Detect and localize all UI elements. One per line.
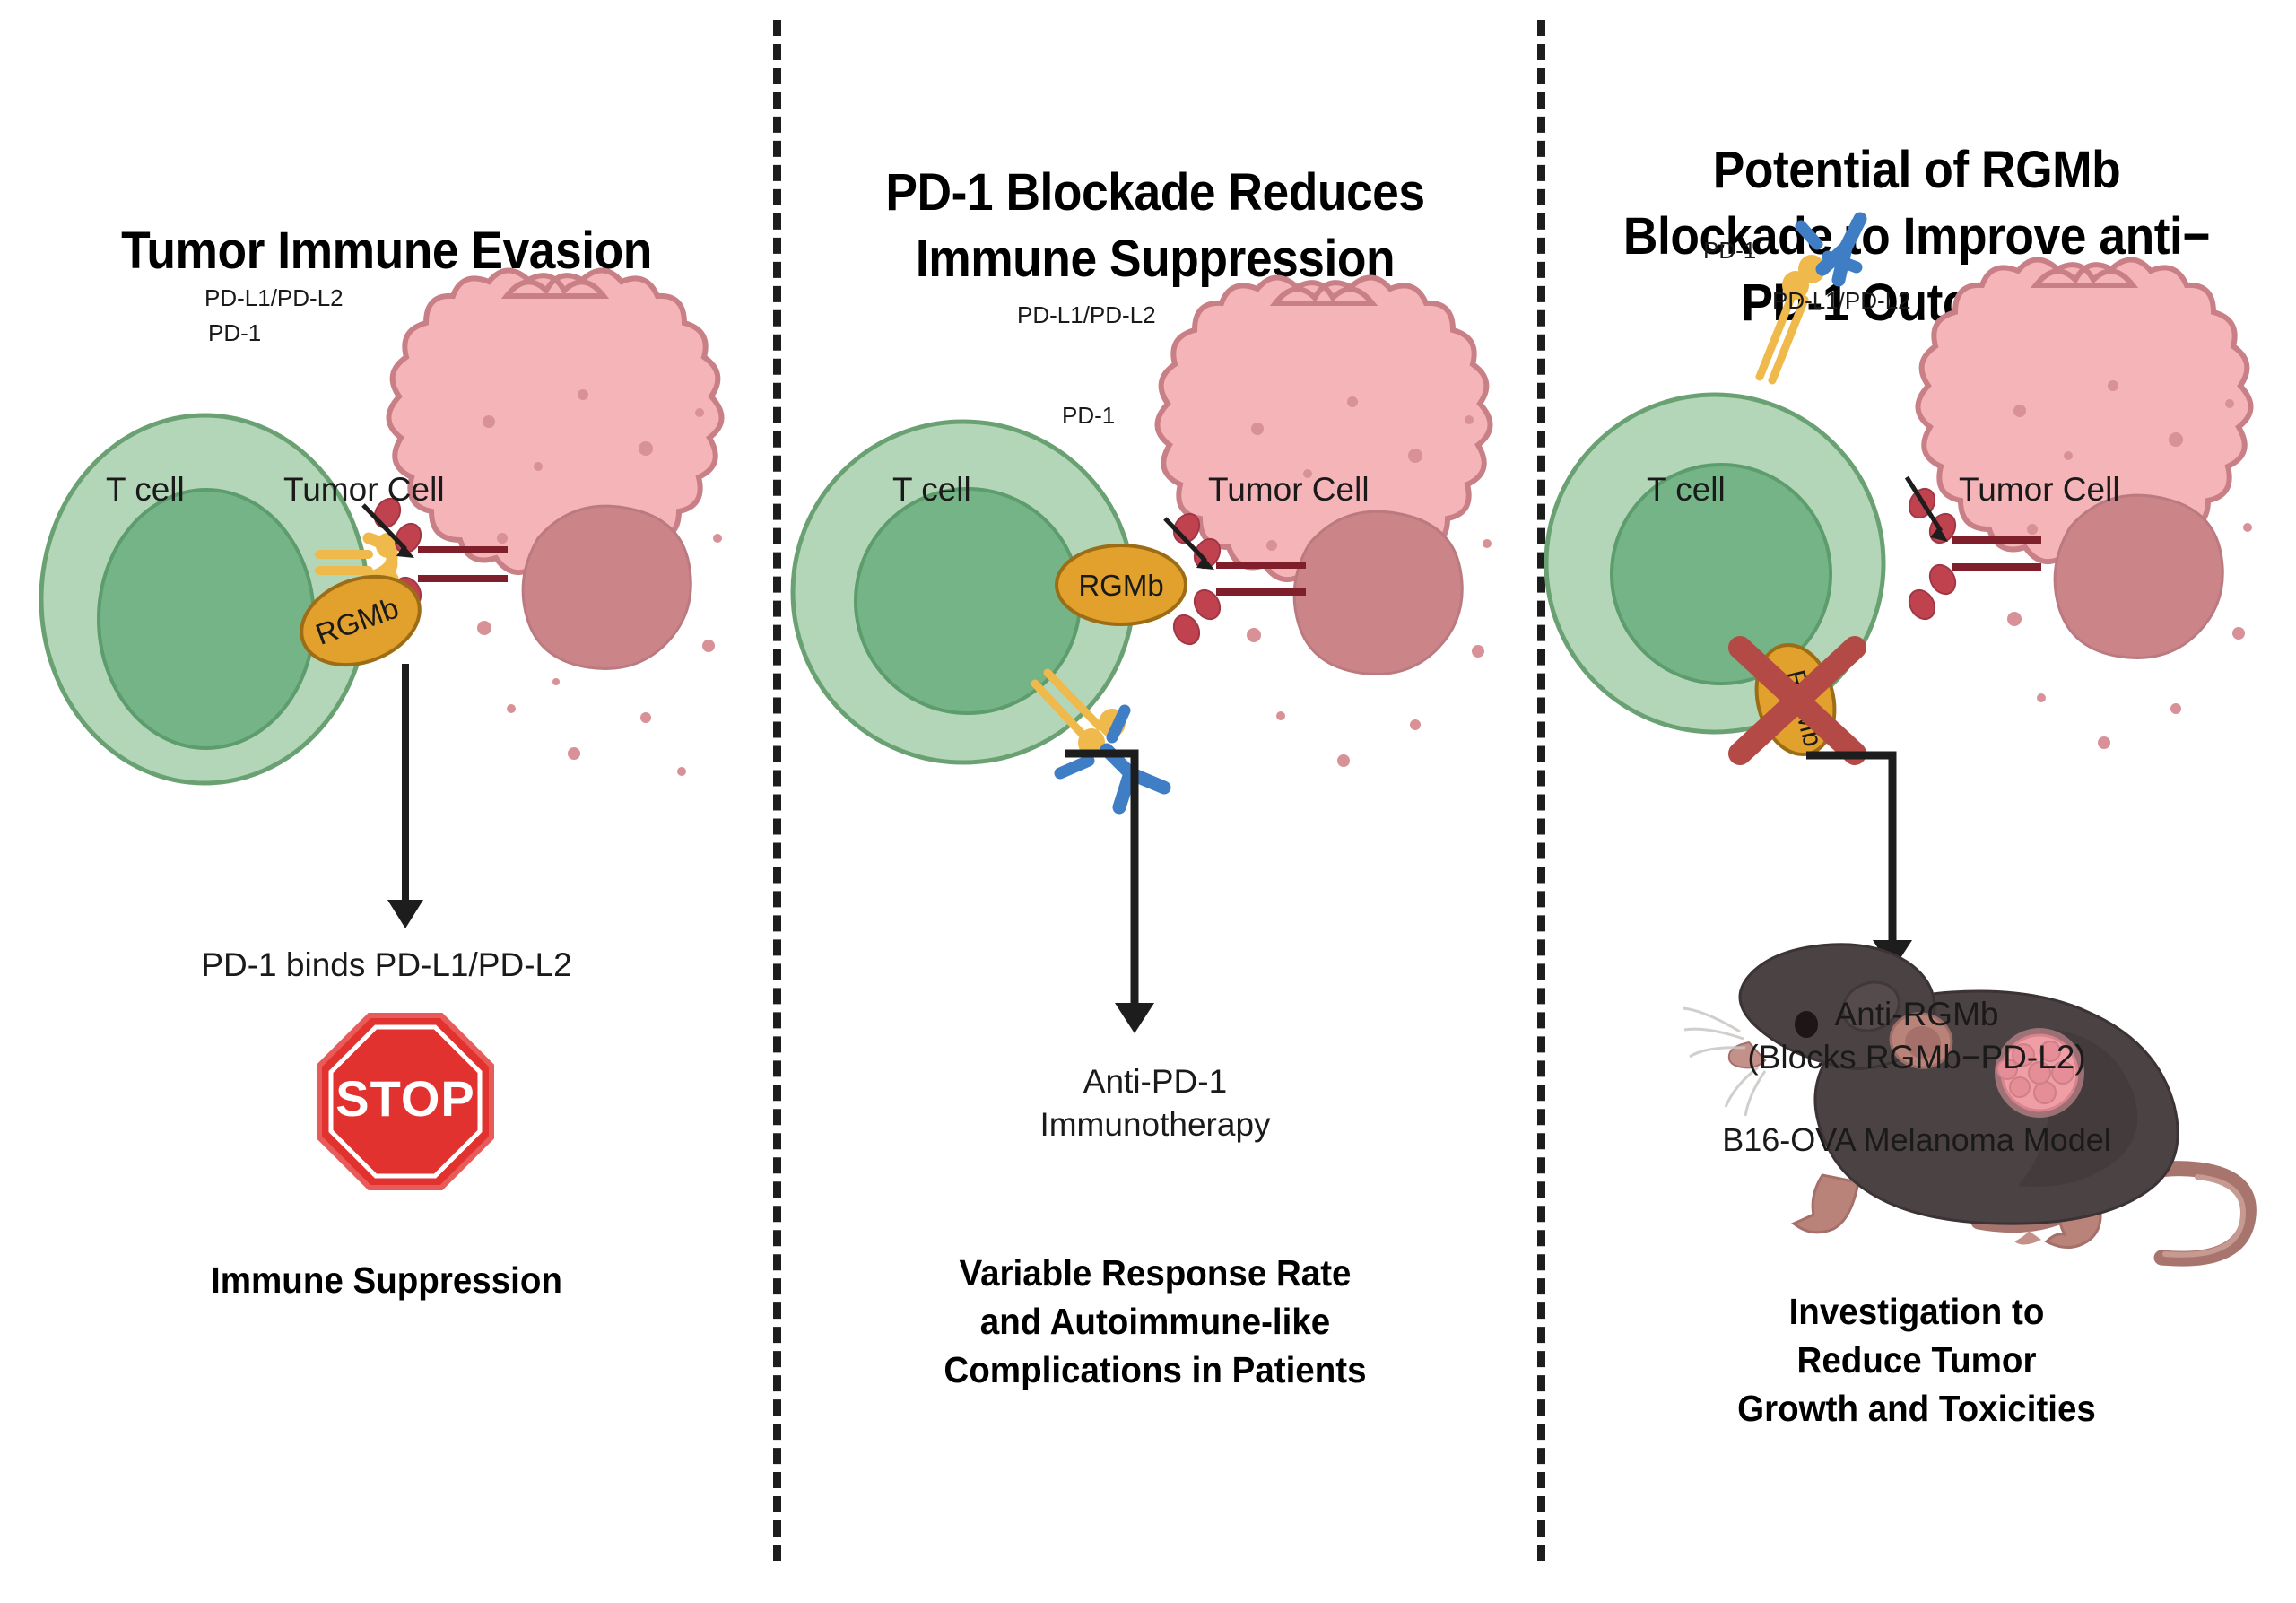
svg-text:RGMb: RGMb bbox=[311, 591, 403, 651]
tumor-cell-2 bbox=[1157, 277, 1492, 767]
pdl-pointer-arrow-1 bbox=[363, 505, 414, 558]
pd1-label-2: PD-1 bbox=[1062, 402, 1115, 430]
rgmb-blocked-cross-icon bbox=[1740, 648, 1855, 754]
tumor-cell-label-2: Tumor Cell bbox=[1208, 471, 1370, 509]
tumor-cell-1 bbox=[388, 270, 722, 776]
flow-arrow-2 bbox=[774, 0, 1154, 1033]
panel-3-title: Potential of RGMb Blockade to Improve an… bbox=[1568, 137, 2266, 337]
panel-rgmb-blockade: Potential of RGMb Blockade to Improve an… bbox=[1537, 0, 2296, 1603]
t-cell-3 bbox=[1546, 395, 1883, 732]
svg-text:RGMb: RGMb bbox=[1780, 667, 1828, 750]
panel-1-conclusion: Immune Suppression bbox=[23, 1256, 750, 1304]
stop-sign-icon: STOP bbox=[319, 1015, 491, 1188]
panel-2-conclusion: Variable Response Rate and Autoimmune-li… bbox=[796, 1249, 1515, 1394]
t-cell-label-1: T cell bbox=[106, 471, 185, 509]
panel-3-caption: Anti-RGMb (Blocks RGMb−PD-L2) bbox=[1537, 993, 2296, 1079]
panel-3-conclusion: Investigation to Reduce Tumor Growth and… bbox=[1560, 1287, 2273, 1433]
panel-2-caption: Anti-PD-1 Immunotherapy bbox=[773, 1060, 1537, 1146]
rgmb-molecule-3: RGMb bbox=[1745, 637, 1846, 763]
t-cell-label-3: T cell bbox=[1647, 471, 1726, 509]
b16-ova-model-label: B16-OVA Melanoma Model bbox=[1537, 1119, 2296, 1162]
pd1-label-1: PD-1 bbox=[208, 319, 261, 347]
panel-pd1-blockade: PD-1 Blockade Reduces Immune Suppression bbox=[773, 0, 1537, 1603]
mouse-with-tumor-icon bbox=[1683, 945, 2248, 1259]
panel-1-caption: PD-1 binds PD-L1/PD-L2 bbox=[0, 944, 773, 987]
pdl1-pdl2-label-1: PD-L1/PD-L2 bbox=[204, 284, 344, 312]
panel-1-title: Tumor Immune Evasion bbox=[30, 218, 742, 284]
flow-arrow-3 bbox=[1806, 755, 1912, 971]
pd1-receptor-2 bbox=[1035, 673, 1126, 757]
figure-canvas: Tumor Immune Evasion bbox=[0, 0, 2296, 1603]
pdl-pointer-arrow-3 bbox=[1907, 477, 1948, 542]
pdl1-pdl2-ligand-2 bbox=[1169, 510, 1306, 649]
tumor-cell-label-1: Tumor Cell bbox=[283, 471, 445, 509]
flow-arrow-1 bbox=[387, 664, 423, 928]
t-cell-label-2: T cell bbox=[892, 471, 971, 509]
rgmb-molecule-1: RGMb bbox=[289, 562, 431, 681]
svg-text:RGMb: RGMb bbox=[1078, 569, 1163, 602]
svg-text:STOP: STOP bbox=[335, 1070, 474, 1127]
pdl1-pdl2-label-3: PD-L1/PD-L2 bbox=[1772, 287, 1911, 315]
anti-pd1-antibody-2 bbox=[1060, 710, 1164, 807]
panel-tumor-immune-evasion: Tumor Immune Evasion bbox=[0, 0, 773, 1603]
panel-2-title: PD-1 Blockade Reduces Immune Suppression bbox=[804, 160, 1507, 292]
pdl1-pdl2-ligand-1 bbox=[370, 494, 508, 636]
pd1-label-3: PD-1 bbox=[1703, 237, 1756, 265]
pd1-receptor-1 bbox=[319, 533, 399, 594]
pdl1-pdl2-label-2: PD-L1/PD-L2 bbox=[1017, 301, 1156, 329]
rgmb-molecule-2: RGMb bbox=[1057, 545, 1186, 624]
pdl-pointer-arrow-2 bbox=[1165, 518, 1214, 570]
tumor-cell-label-3: Tumor Cell bbox=[1959, 471, 2120, 509]
